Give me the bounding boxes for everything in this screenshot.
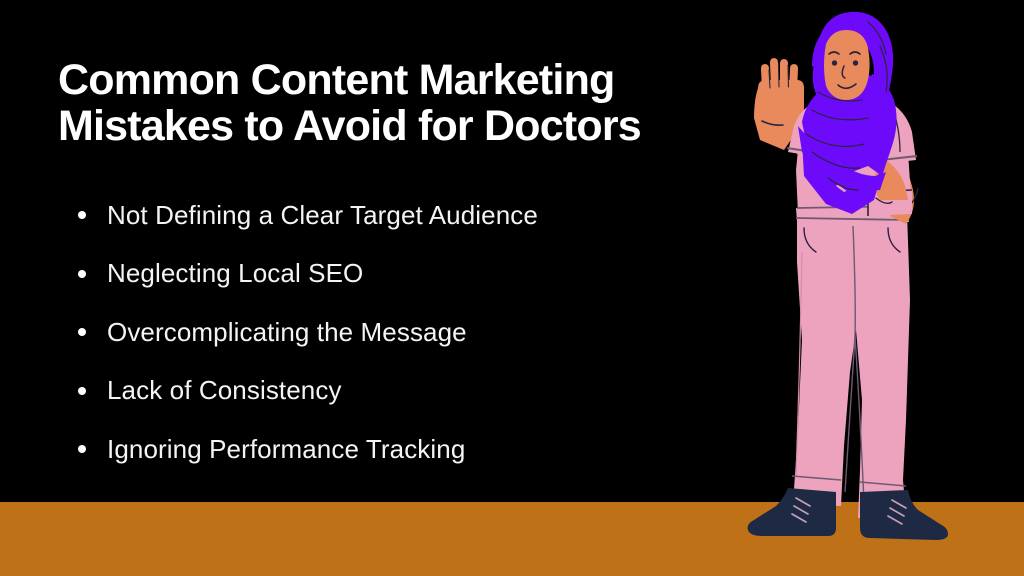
bullet-dot-icon bbox=[78, 270, 86, 278]
list-item: Ignoring Performance Tracking bbox=[78, 420, 718, 479]
list-item-label: Overcomplicating the Message bbox=[107, 317, 718, 348]
list-item-label: Ignoring Performance Tracking bbox=[107, 434, 718, 465]
page-title-line-1: Common Content Marketing bbox=[58, 56, 615, 104]
bullet-dot-icon bbox=[78, 445, 86, 453]
list-item: Not Defining a Clear Target Audience bbox=[78, 186, 718, 245]
page-title: Common Content MarketingMistakes to Avoi… bbox=[58, 57, 738, 149]
face-group bbox=[824, 30, 870, 100]
scrub-trousers-group bbox=[792, 208, 910, 518]
slide-canvas: Common Content MarketingMistakes to Avoi… bbox=[0, 0, 1024, 576]
list-item: Neglecting Local SEO bbox=[78, 245, 718, 304]
list-item-label: Lack of Consistency bbox=[107, 375, 718, 406]
bullet-dot-icon bbox=[78, 328, 86, 336]
list-item-label: Neglecting Local SEO bbox=[107, 258, 718, 289]
page-title-line-2: Mistakes to Avoid for Doctors bbox=[58, 102, 641, 150]
text-content-area: Common Content MarketingMistakes to Avoi… bbox=[0, 0, 745, 576]
bullet-dot-icon bbox=[78, 387, 86, 395]
list-item: Lack of Consistency bbox=[78, 362, 718, 421]
shoes-group bbox=[748, 488, 948, 540]
female-doctor-waving-illustration bbox=[740, 0, 1024, 576]
mistakes-bullet-list: Not Defining a Clear Target Audience Neg… bbox=[78, 186, 718, 479]
list-item-label: Not Defining a Clear Target Audience bbox=[107, 200, 718, 231]
list-item: Overcomplicating the Message bbox=[78, 303, 718, 362]
bullet-dot-icon bbox=[78, 211, 86, 219]
